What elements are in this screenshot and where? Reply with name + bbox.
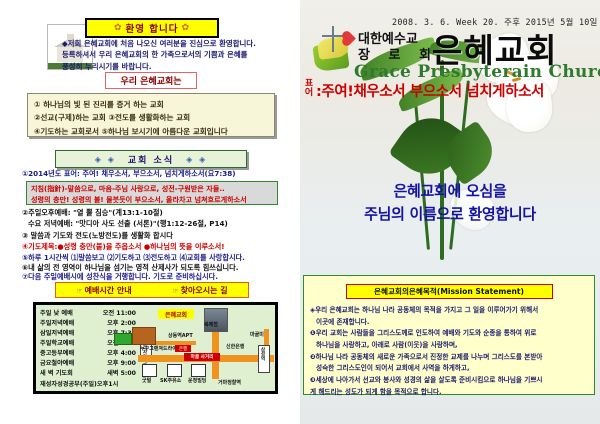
mission-line-5: ❷하나님 나라 공동체의 새로운 가족으로서 진정한 교제를 나누며 그리스도를… [310, 352, 588, 363]
map-box-1 [142, 364, 157, 377]
service-extra-note: 재성자성경공부(주일)오후1시 [40, 380, 136, 390]
news-line-6: ⑤하루 1시간씩 ⑴말씀보고 ⑵기도하고 ⑶전도하고 ⑷교회를 사랑합시다. [22, 253, 245, 263]
map-church-photo [204, 308, 228, 332]
flower-icon-right: ✿ [182, 23, 191, 33]
church-logo [312, 26, 360, 74]
news-line-2: ②주일오후예배: "열 뿔 짐승"(계13:1-10절) [22, 208, 163, 218]
welcome-message-line-2: 주님의 이름으로 환영합니다 [300, 203, 600, 226]
mission-line-4: 하나님을 사랑하고, 아래로 사람(이웃)을 사랑하며, [310, 340, 588, 351]
flower-icon-left: ✿ [114, 23, 123, 33]
map-canvas: 주일 낮 예배 오전 11:00 주일저녁예배 오후 2:00 삼일저녁예배 오… [36, 305, 275, 391]
map-bank-marker: 은행 [175, 345, 191, 352]
welcome-line-3: 풍성히 누리시기를 바랍니다. [62, 61, 294, 72]
welcome-banner: ✿ 환영 합니다 ✿ [85, 18, 219, 38]
welcome-line-2: 등록하셔서 우리 은혜교회의 한 가족으로서의 기쁨과 은혜를 [62, 49, 294, 60]
service-time: 오후 4:00 [107, 349, 136, 359]
map-label-sk-gas: SK주유소 [160, 377, 181, 384]
church-news-title: 교회 소식 [128, 153, 174, 166]
motto-line-1: 지침(指針)-말씀으로, 마음-주님 사랑으로, 성전-구원받은 자들.. [31, 184, 273, 195]
pointing-hand-icon-left: ☞ [76, 287, 82, 295]
table-row: 금요철야예배 오후 9:00 [40, 359, 136, 369]
service-name: 삼일저녁예배 [40, 329, 74, 339]
identity-line-3: ④기도하는 교회로서 ⑤하나님 보시기에 아름다운 교회입니다 [34, 125, 268, 138]
map-church-tag: 은혜교회 [158, 309, 194, 319]
mission-statement-body: ◈우리 은혜교회는 하나님 나라 공동체의 목적을 가지고 그 일을 이루어가기… [310, 305, 588, 397]
mission-line-1: ◈우리 은혜교회는 하나님 나라 공동체의 목적을 가지고 그 일을 이루어가기… [310, 305, 588, 316]
service-name: 주일 낮 예배 [40, 309, 73, 319]
cross-icon [70, 28, 71, 34]
map-box-3 [191, 364, 206, 377]
we-are-label: 우리 은혜교회는 [105, 72, 197, 89]
diamond-icon-right: ◈ ◈ [186, 155, 207, 164]
church-name-english: Grace Presbyterain Church [354, 62, 600, 82]
map-label-samsung: 삼성역 [259, 347, 265, 361]
service-name: 새 벽 기도회 [40, 369, 73, 379]
news-line-3: 수요 저녁예배: "맛디아 사도 선출 (서론)"(행1:12-26절, P14… [28, 219, 228, 229]
map-label-unjung-bldg: 운정빌딩 [188, 377, 206, 384]
identity-line-2: ②선교(구제)하는 교회 ③전도를 생활화하는 교회 [34, 111, 268, 124]
table-row: 새 벽 기도회 새벽 5:00 [40, 369, 136, 379]
welcome-message-line-1: 은혜교회에 오심을 [300, 180, 600, 203]
heart-icon [343, 32, 356, 45]
directions-label: 찾아오시는 길 [181, 286, 228, 295]
motto-line-2: 성령의 충만! 성령의 불! 물붓듯이 부으소서, 올라차고 넘쳐흐르게하소서 [31, 195, 273, 206]
slogan-label: 표 어 [302, 80, 316, 99]
welcome-line-1: ◆저희 은혜교회에 처음 나오신 여러분을 진심으로 환영합니다. [62, 38, 294, 49]
slogan-text: :주여!채우소서 부으소서 넘치게하소서 [316, 80, 544, 101]
mission-statement-box: 은혜교회의은혜목적(Mission Statement) ◈우리 은혜교회는 하… [303, 275, 595, 395]
news-line-4: ③ 말씀과 기도와 전도(노방전도)를 생활화 합시다 [22, 231, 173, 241]
service-time: 오후 9:00 [107, 359, 136, 369]
service-name: 금요철야예배 [40, 359, 74, 369]
worship-time-guide-button[interactable]: ☞예배시간 안내 [76, 285, 131, 296]
diamond-icon-left: ◈ ◈ [95, 155, 116, 164]
left-panel: ✿ 환영 합니다 ✿ ◆저희 은혜교회에 처음 나오신 여러분을 진심으로 환영… [0, 0, 300, 424]
service-name: 주일저녁예배 [40, 319, 74, 329]
guide-bar[interactable]: ☞예배시간 안내 ☞찾아오시는 길 [55, 282, 249, 298]
table-row: 주일 낮 예배 오전 11:00 [40, 309, 136, 319]
map-green-building [114, 333, 132, 345]
service-name: 주일학교예배 [40, 339, 74, 349]
mission-line-8: 게 해드리는 성도가 되게 함을 목적으로 합니다. [310, 387, 588, 398]
mission-line-7: ❸세상에 나아가서 선교와 봉사와 성경의 삶을 살도록 준비시킴으로 하나님을… [310, 375, 588, 386]
denomination-line-2: 장 로 회 [358, 44, 438, 63]
slogan-label-char-2: 어 [302, 89, 316, 98]
service-time: 오전 11:00 [103, 309, 136, 319]
pointing-hand-icon-right: ☞ [172, 287, 178, 295]
motto-box: 지침(指針)-말씀으로, 마음-주님 사랑으로, 성전-구원받은 자들.. 성령… [26, 181, 278, 205]
service-time: 새벽 5:00 [107, 369, 136, 379]
worship-time-guide-label: 예배시간 안내 [85, 286, 132, 295]
map-label-magolmi: 마골미 [250, 331, 264, 338]
map-and-schedule-block: 주일 낮 예배 오전 11:00 주일저녁예배 오후 2:00 삼일저녁예배 오… [33, 302, 278, 394]
news-line-8: ⑦다음 주일예배시에 성찬식을 거행합니다. 기도로 준비하십시다. [22, 272, 218, 282]
church-news-header: ◈ ◈ 교회 소식 ◈ ◈ [55, 150, 247, 168]
directions-button[interactable]: ☞찾아오시는 길 [172, 285, 227, 296]
map-label-sangdong-apt: 상동역APT [168, 332, 193, 339]
map-label-station: 거마정찰역 [218, 379, 241, 386]
welcome-paragraph: ◆저희 은혜교회에 처음 나오신 여러분을 진심으로 환영합니다. 등록하셔서 … [62, 38, 294, 72]
logo-cross-icon [332, 26, 334, 52]
news-line-5: ④기도제목:●성령 충만(불)을 주옵소서 ●하나님의 뜻을 이루소서! [22, 242, 225, 252]
mission-line-6: 성숙한 그리스도인이 되어서 교회에서 사역을 하게하고, [310, 363, 588, 374]
map-label-shinhan-bank: 신한은행 [226, 343, 244, 350]
welcome-banner-text: 환영 합니다 [125, 21, 178, 35]
map-box-2 [167, 364, 182, 377]
mission-statement-title: 은혜교회의은혜목적(Mission Statement) [346, 284, 553, 299]
mission-line-2: 이곳에 존재합니다. [310, 317, 588, 328]
map-label-print-shop: 복제점 [204, 321, 218, 328]
identity-line-1: ① 하나님의 빛 된 진리를 증거 하는 교회 [34, 98, 268, 111]
table-row: 주일저녁예배 오후 2:00 [40, 319, 136, 329]
map-church-building-icon [132, 327, 156, 345]
bulletin-page: ✿ 환영 합니다 ✿ ◆저희 은혜교회에 처음 나오신 여러분을 진심으로 환영… [0, 0, 600, 424]
service-schedule-table: 주일 낮 예배 오전 11:00 주일저녁예배 오후 2:00 삼일저녁예배 오… [40, 309, 136, 390]
news-line-1: ①2014년도 표어: 주여! 채우소서, 부으소서, 넘치게하소서(요7:38… [22, 169, 236, 179]
map-label-gutmul: 굿멀 [142, 377, 151, 384]
welcome-message: 은혜교회에 오심을 주님의 이름으로 환영합니다 [300, 180, 600, 225]
table-row: 중고등부예배 오후 4:00 [40, 349, 136, 359]
map-crossing-label: 마골 사거리 [184, 353, 220, 361]
service-name: 중고등부예배 [40, 349, 74, 359]
mission-line-3: ❶우리 교회는 사람들을 그리스도께로 인도하여 예배와 기도와 순종을 통하여… [310, 328, 588, 339]
church-identity-box: ① 하나님의 빛 된 진리를 증거 하는 교회 ②선교(구제)하는 교회 ③전도… [27, 93, 275, 137]
